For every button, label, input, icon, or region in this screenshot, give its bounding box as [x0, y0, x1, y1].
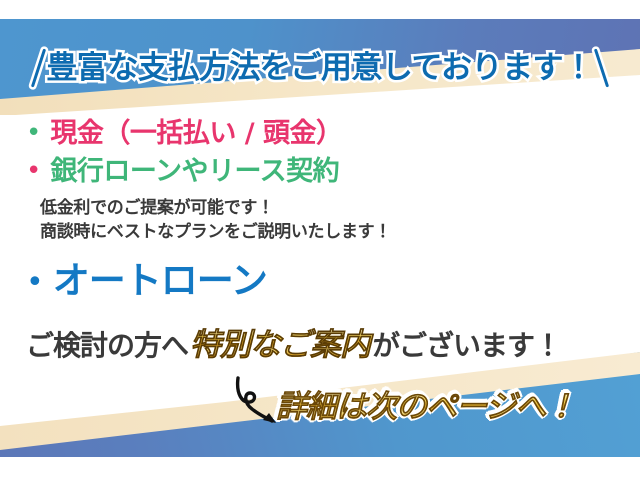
list-item-label: 現金（一括払い / 頭金）: [50, 118, 342, 150]
bullet-dot-icon: •: [26, 120, 41, 146]
page-title: 豊富な支払方法をご用意しております！: [46, 53, 593, 84]
list-item: • 現金（一括払い / 頭金）: [26, 118, 626, 150]
next-page-label: 詳細は次のページへ！: [276, 392, 575, 423]
payment-options-list: • 現金（一括払い / 頭金） • 銀行ローンやリース契約 低金利でのご提案が可…: [26, 118, 626, 303]
next-page-callout: 詳細は次のページへ！: [276, 392, 575, 423]
slash-right-icon: [593, 49, 608, 88]
payment-methods-banner: 豊富な支払方法をご用意しております！ • 現金（一括払い / 頭金） • 銀行ロ…: [0, 0, 640, 480]
note-line: 低金利でのご提案が可能です！: [40, 196, 626, 221]
loan-notes: 低金利でのご提案が可能です！ 商談時にベストなプランをご説明いたします！: [40, 196, 626, 245]
list-item: • オートローン: [26, 259, 626, 303]
list-item: • 銀行ローンやリース契約: [26, 156, 626, 188]
headline-row: 豊富な支払方法をご用意しております！: [0, 42, 640, 94]
list-item-label: オートローン: [53, 259, 267, 303]
slash-left-icon: [31, 49, 46, 88]
list-item-label: 銀行ローンやリース契約: [50, 156, 339, 188]
note-line: 商談時にベストなプランをご説明いたします！: [40, 220, 626, 245]
bullet-dot-icon: •: [26, 158, 41, 184]
bullet-dot-icon: •: [26, 268, 44, 298]
